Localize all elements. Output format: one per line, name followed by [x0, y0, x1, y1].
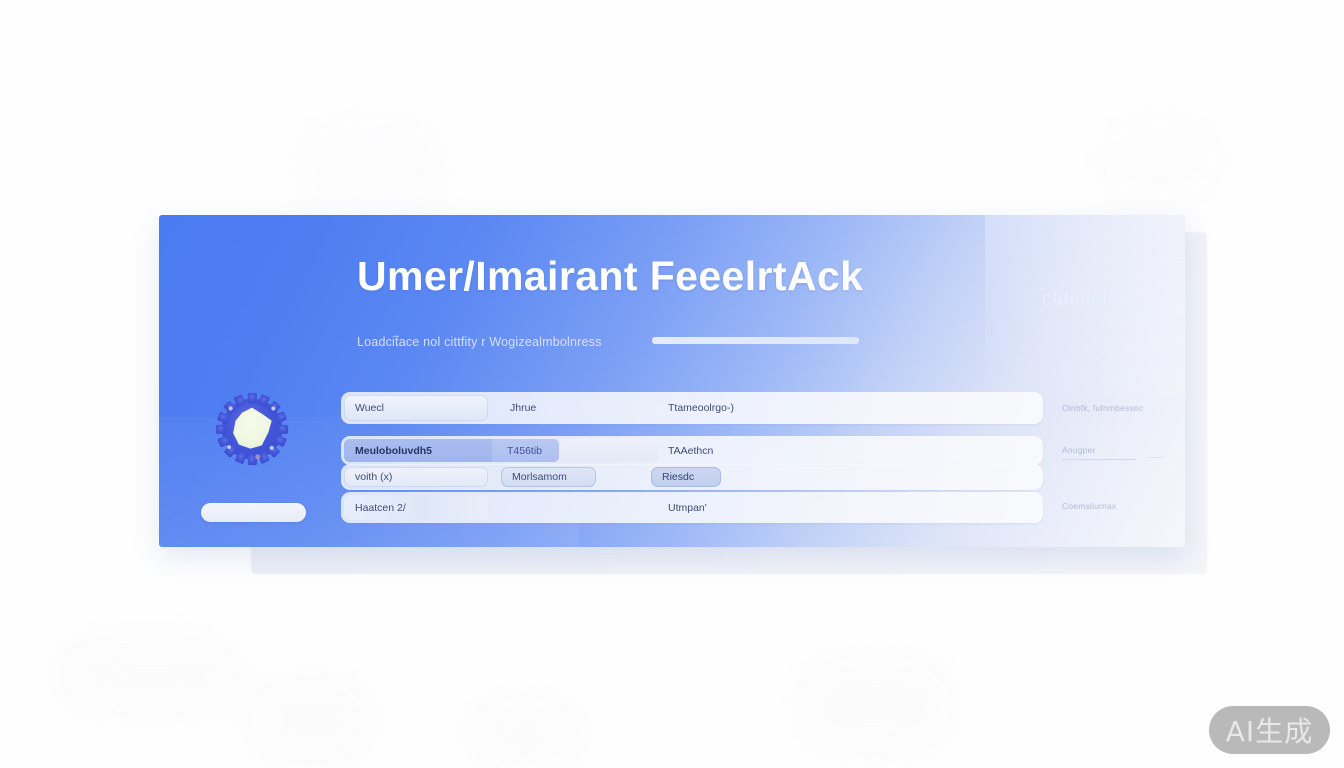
ai-generated-watermark: AI生成: [1209, 706, 1330, 754]
field-type: Jhrue: [499, 395, 659, 421]
side-divider: [1062, 459, 1136, 460]
subtitle-rule: [652, 337, 859, 344]
page-title: Umer/Imairant FeeelrtAck: [357, 253, 863, 300]
background-blotch: [60, 640, 240, 710]
field-detail: Ttameoolrgo-): [657, 395, 997, 421]
side-divider-short: [1148, 457, 1164, 458]
side-label-action: Anugper: [1062, 445, 1096, 455]
gear-icon: [211, 388, 293, 470]
field-name[interactable]: Wuecl: [344, 395, 488, 421]
field-detail: TAAethcn: [657, 439, 997, 462]
background-blotch: [1100, 120, 1220, 200]
side-label-summary: Coemsliurnax: [1062, 501, 1116, 511]
field-detail: Utmpan': [657, 495, 997, 520]
field-blank[interactable]: [561, 439, 659, 462]
field-code[interactable]: T456tib: [496, 439, 560, 462]
field-name[interactable]: Meuloboluvdh5: [344, 439, 492, 462]
screenshot-root: Umer/Imairant FeeelrtAck Loadcit̃ace nol…: [0, 0, 1344, 768]
chip-option-b[interactable]: Riesdc: [651, 467, 721, 487]
side-label-status: Oinbfk, fufnmbessnc: [1062, 403, 1143, 413]
field-name[interactable]: Haatcen 2/: [344, 495, 488, 520]
chip-option-a[interactable]: Morlsamom: [501, 467, 596, 487]
background-blotch: [800, 660, 950, 750]
brand-tag: @n: [1042, 277, 1124, 286]
field-name[interactable]: voith (x): [344, 467, 488, 487]
table-row[interactable]: voith (x) Morlsamom Riesdc: [341, 464, 1043, 490]
background-blotch: [250, 680, 370, 760]
background-blotch: [470, 700, 580, 768]
brand-name: cIdoIlaIlp: [1042, 289, 1124, 311]
brand-block: @n cIdoIlaIlp: [1042, 277, 1124, 311]
table-row[interactable]: Wuecl Jhrue Ttameoolrgo-): [341, 392, 1043, 424]
table-row[interactable]: Haatcen 2/ Utmpan': [341, 492, 1043, 523]
page-subtitle: Loadcit̃ace nol cittfity r Wogizealmboln…: [357, 335, 602, 349]
table-row-selected[interactable]: Meuloboluvdh5 T456tib TAAethcn: [341, 436, 1043, 465]
background-blotch: [300, 120, 440, 210]
primary-pill-button[interactable]: [201, 503, 306, 522]
